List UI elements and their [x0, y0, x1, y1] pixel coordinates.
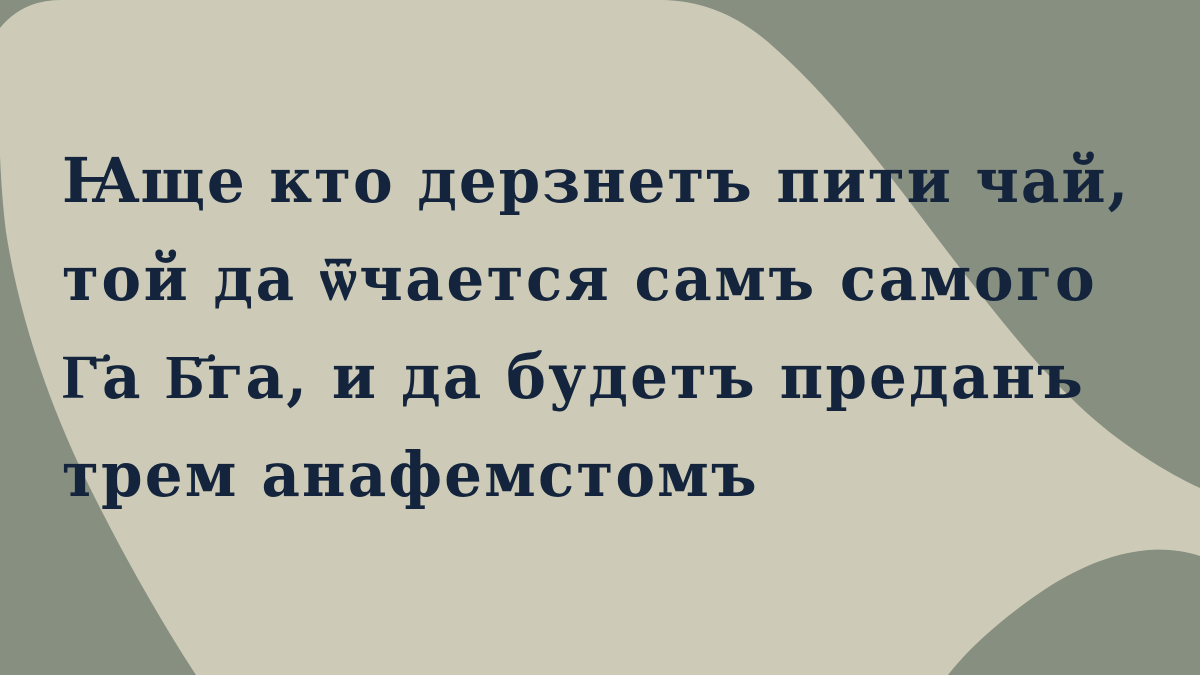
quote-line-3: Г҃а Б҃га, и да будетъ преданъ	[62, 328, 1060, 426]
quote-line-1: Ꙗще кто дерзнетъ пити чай,	[62, 132, 1060, 230]
quote-line-4: трем анафемстомъ	[62, 426, 1060, 524]
quote-card: Ꙗще кто дерзнетъ пити чай, той да ѿчаетс…	[0, 0, 1200, 675]
quote-text-block: Ꙗще кто дерзнетъ пити чай, той да ѿчаетс…	[62, 132, 1102, 524]
quote-line-2: той да ѿчается самъ самого	[62, 230, 1060, 328]
